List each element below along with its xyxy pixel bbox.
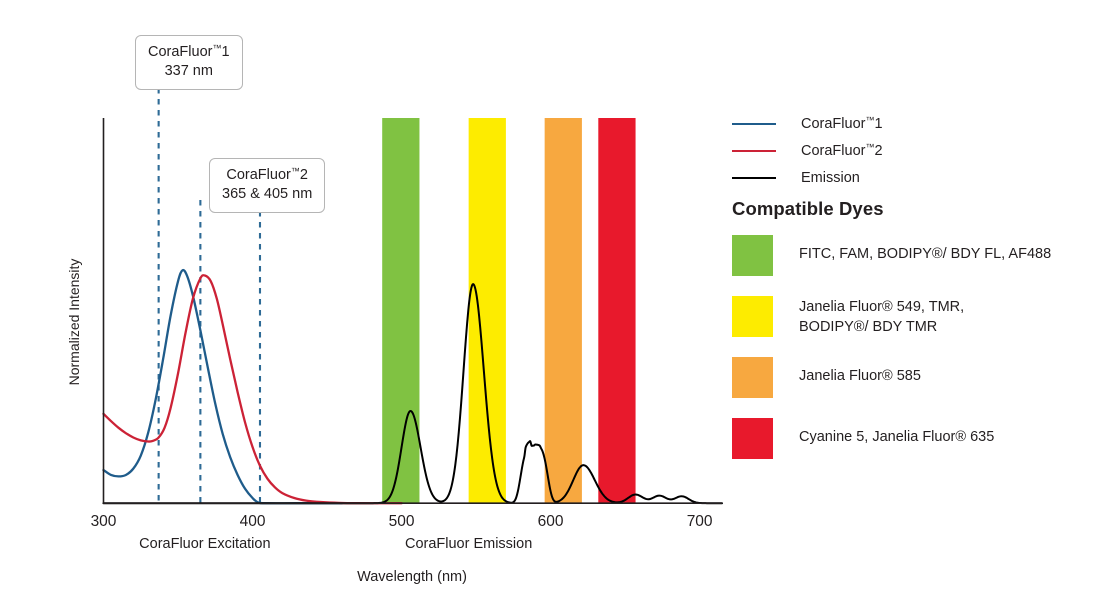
legend-panel: CoraFluor™1CoraFluor™2Emission Compatibl… — [730, 0, 1110, 612]
red-band — [598, 118, 635, 503]
legend-line-swatch — [732, 123, 776, 125]
callout-cf2-line2: 365 & 405 nm — [222, 185, 312, 204]
legend-label: CoraFluor™1 — [801, 115, 883, 132]
x-tick-700: 700 — [687, 513, 713, 530]
x-sublabel-emission: CoraFluor Emission — [405, 536, 532, 552]
callout-cf1-line1: CoraFluor™1 — [148, 43, 230, 62]
dye-color-swatch — [732, 418, 773, 459]
callout-cf2-line1: CoraFluor™2 — [222, 166, 312, 185]
compatible-dyes-list: FITC, FAM, BODIPY®/ BDY FL, AF488Janelia… — [730, 235, 1110, 479]
dye-label: Janelia Fluor® 549, TMR,BODIPY®/ BDY TMR — [799, 296, 964, 337]
callout-corafluor-2: CoraFluor™2 365 & 405 nm — [209, 158, 325, 213]
compatible-dyes-heading: Compatible Dyes — [732, 198, 884, 220]
legend-label: Emission — [801, 169, 860, 186]
x-tick-400: 400 — [240, 513, 266, 530]
x-sublabel-group: CoraFluor ExcitationCoraFluor Emission — [139, 536, 532, 552]
legend-line-swatch — [732, 150, 776, 152]
x-tick-label-group: 300400500600700 — [91, 513, 713, 530]
yellow-band — [469, 118, 506, 503]
dye-label: FITC, FAM, BODIPY®/ BDY FL, AF488 — [799, 235, 1051, 265]
dye-row-1: Janelia Fluor® 549, TMR,BODIPY®/ BDY TMR — [730, 296, 1110, 337]
legend-row-1: CoraFluor™2 — [730, 137, 1110, 164]
green-band — [382, 118, 419, 503]
series-legend: CoraFluor™1CoraFluor™2Emission — [730, 110, 1110, 191]
legend-row-0: CoraFluor™1 — [730, 110, 1110, 137]
legend-line-swatch — [732, 177, 776, 179]
x-tick-500: 500 — [389, 513, 415, 530]
curve-corafluor2 — [104, 275, 402, 503]
dye-color-swatch — [732, 296, 773, 337]
dye-row-2: Janelia Fluor® 585 — [730, 357, 1110, 398]
x-tick-300: 300 — [91, 513, 117, 530]
y-axis-title: Normalized Intensity — [66, 259, 82, 386]
plot-canvas: 300400500600700 CoraFluor ExcitationCora… — [0, 0, 730, 612]
dye-label: Cyanine 5, Janelia Fluor® 635 — [799, 418, 994, 448]
callout-cf1-line2: 337 nm — [148, 62, 230, 81]
x-tick-600: 600 — [538, 513, 564, 530]
dye-color-swatch — [732, 235, 773, 276]
dye-label: Janelia Fluor® 585 — [799, 357, 921, 387]
spectra-chart: 300400500600700 CoraFluor ExcitationCora… — [0, 0, 730, 612]
orange-band — [545, 118, 582, 503]
x-axis-title: Wavelength (nm) — [357, 569, 467, 585]
callout-corafluor-1: CoraFluor™1 337 nm — [135, 35, 243, 90]
legend-row-2: Emission — [730, 164, 1110, 191]
dye-row-0: FITC, FAM, BODIPY®/ BDY FL, AF488 — [730, 235, 1110, 276]
dye-color-swatch — [732, 357, 773, 398]
dye-row-3: Cyanine 5, Janelia Fluor® 635 — [730, 418, 1110, 459]
legend-label: CoraFluor™2 — [801, 142, 883, 159]
curve-corafluor1 — [104, 270, 342, 503]
x-sublabel-excitation: CoraFluor Excitation — [139, 536, 270, 552]
